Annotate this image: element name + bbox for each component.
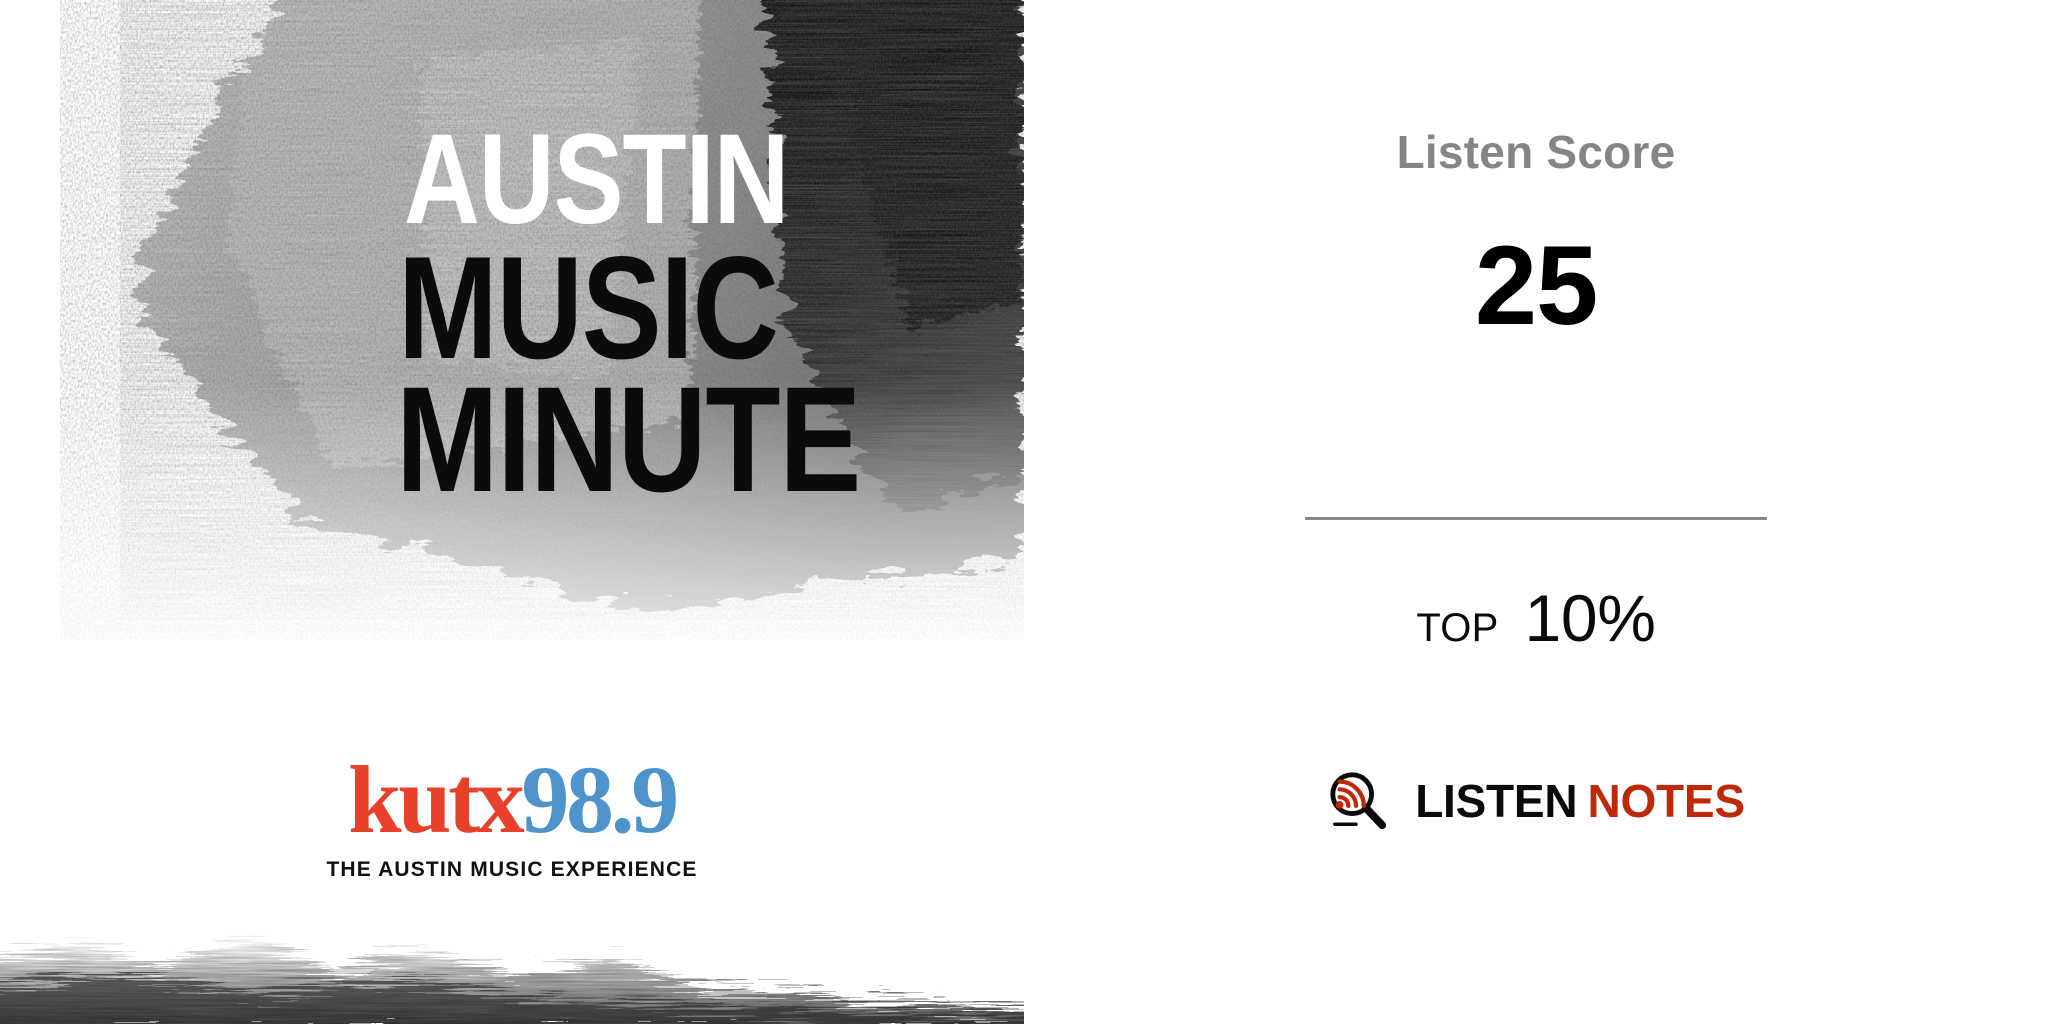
kutx-wordmark: kutx98.9 — [0, 752, 1024, 848]
grunge-bottom-svg — [0, 914, 1024, 1024]
listen-score-label: Listen Score — [1305, 125, 1767, 179]
kutx-frequency: 98.9 — [521, 746, 676, 853]
podcast-cover-art: AUSTIN MUSIC MINUTE kutx98.9 THE AUSTIN … — [0, 0, 1024, 1024]
kutx-tagline: THE AUSTIN MUSIC EXPERIENCE — [0, 858, 1024, 882]
listen-notes-word-notes: NOTES — [1587, 775, 1744, 827]
grunge-texture-background — [0, 0, 1024, 700]
kutx-station-logo: kutx98.9 THE AUSTIN MUSIC EXPERIENCE — [0, 752, 1024, 882]
listen-score-card: AUSTIN MUSIC MINUTE kutx98.9 THE AUSTIN … — [0, 0, 2048, 1024]
rank-top-label: TOP — [1416, 606, 1498, 651]
listen-score-panel: Listen Score 25 TOP 10% — [1024, 0, 2048, 1024]
rank-percent-value: 10% — [1525, 580, 1656, 656]
score-rank-row: TOP 10% — [1305, 580, 1767, 656]
listen-notes-word-listen: LISTEN — [1415, 775, 1577, 827]
listen-score-content: Listen Score 25 TOP 10% — [1305, 0, 1767, 1024]
listen-score-value: 25 — [1305, 230, 1767, 342]
listen-notes-wordmark: LISTENNOTES — [1415, 778, 1745, 824]
listen-notes-magnifier-rss-icon — [1327, 770, 1389, 832]
grunge-bottom-strip — [0, 914, 1024, 1024]
kutx-call-letters: kutx — [348, 746, 521, 853]
listen-notes-brand: LISTENNOTES — [1305, 770, 1767, 832]
grunge-texture-svg — [0, 0, 1024, 700]
score-divider — [1305, 517, 1767, 520]
